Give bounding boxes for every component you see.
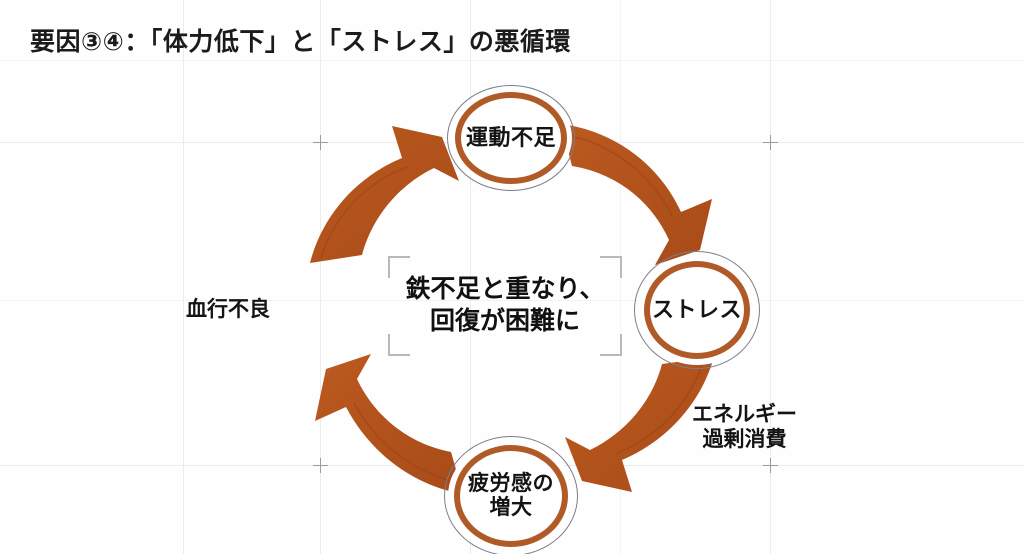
node-fatigue-label-line2: 増大 <box>468 496 554 520</box>
node-stress[interactable]: ストレス <box>638 255 756 365</box>
node-fatigue[interactable]: 疲労感の 増大 <box>448 440 574 552</box>
label-blood-flow: 血行不良 <box>186 297 270 322</box>
node-fatigue-label-line1: 疲労感の <box>468 472 554 496</box>
node-stress-label: ストレス <box>652 298 742 322</box>
node-exercise-label: 運動不足 <box>466 126 556 150</box>
arrow-exercise-to-stress <box>561 124 712 265</box>
center-callout: 鉄不足と重なり、 回復が困難に <box>388 256 622 356</box>
label-energy-line2: 過剰消費 <box>692 427 797 452</box>
node-exercise[interactable]: 運動不足 <box>450 88 572 188</box>
node-fatigue-label: 疲労感の 増大 <box>468 472 554 519</box>
center-callout-line2: 回復が困難に <box>430 306 580 339</box>
center-callout-line1: 鉄不足と重なり、 <box>405 274 604 307</box>
slide-canvas: 要因③④：「体力低下」と「ストレス」の悪循環 <box>0 0 1024 554</box>
arrow-bloodflow-to-exercise <box>310 126 459 263</box>
label-energy: エネルギー 過剰消費 <box>692 402 797 452</box>
arrow-fatigue-to-bloodflow <box>315 354 463 494</box>
label-energy-line1: エネルギー <box>692 402 797 427</box>
center-callout-text: 鉄不足と重なり、 回復が困難に <box>388 256 622 356</box>
